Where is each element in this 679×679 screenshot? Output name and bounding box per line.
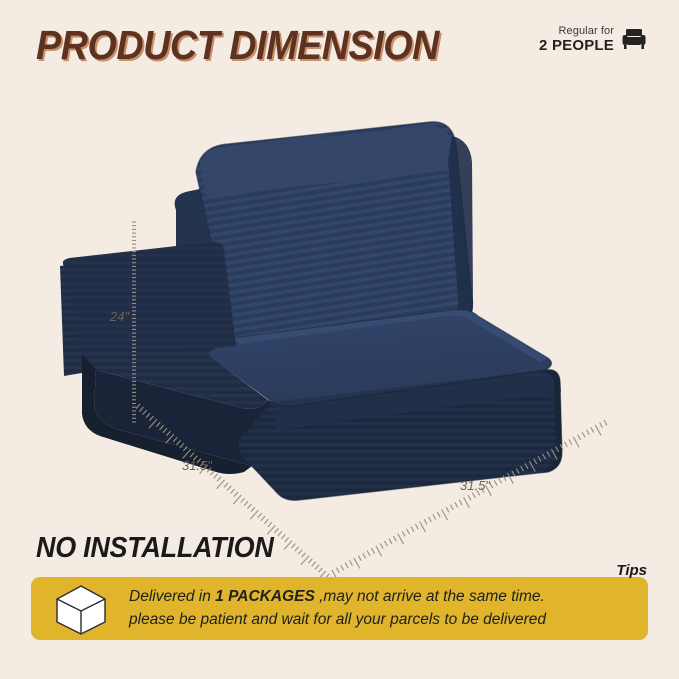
delivery-tips-banner: Delivered in 1 PACKAGES ,may not arrive …	[31, 577, 648, 640]
product-illustration-stage	[0, 100, 679, 510]
delivery-tips-line2: please be patient and wait for all your …	[129, 609, 546, 631]
width-ruler	[330, 410, 620, 600]
depth-ruler	[136, 400, 356, 600]
delivery-tips-text: Delivered in 1 PACKAGES ,may not arrive …	[129, 586, 546, 631]
tips-label: Tips	[616, 562, 647, 579]
header: PRODUCT DIMENSION Regular for 2 PEOPLE	[0, 0, 679, 100]
capacity-badge-line2: 2 PEOPLE	[539, 38, 614, 54]
package-box-icon	[53, 583, 109, 635]
depth-label: 31.5"	[182, 458, 212, 473]
height-label: 24"	[110, 309, 129, 324]
delivery-tips-line1: Delivered in 1 PACKAGES ,may not arrive …	[129, 586, 546, 608]
packages-count: 1 PACKAGES	[215, 588, 315, 605]
width-label: 31.5"	[460, 478, 490, 493]
delivery-line1-pre: Delivered in	[129, 588, 215, 605]
capacity-badge-text: Regular for 2 PEOPLE	[539, 26, 614, 54]
capacity-badge: Regular for 2 PEOPLE	[539, 26, 647, 54]
height-ruler	[132, 218, 156, 428]
delivery-line1-post: ,may not arrive at the same time.	[315, 588, 545, 605]
armchair-icon	[621, 27, 647, 53]
product-dimension-infographic: PRODUCT DIMENSION Regular for 2 PEOPLE	[0, 0, 679, 679]
page-title: PRODUCT DIMENSION	[36, 22, 439, 69]
no-installation-heading: NO INSTALLATION	[36, 532, 274, 565]
